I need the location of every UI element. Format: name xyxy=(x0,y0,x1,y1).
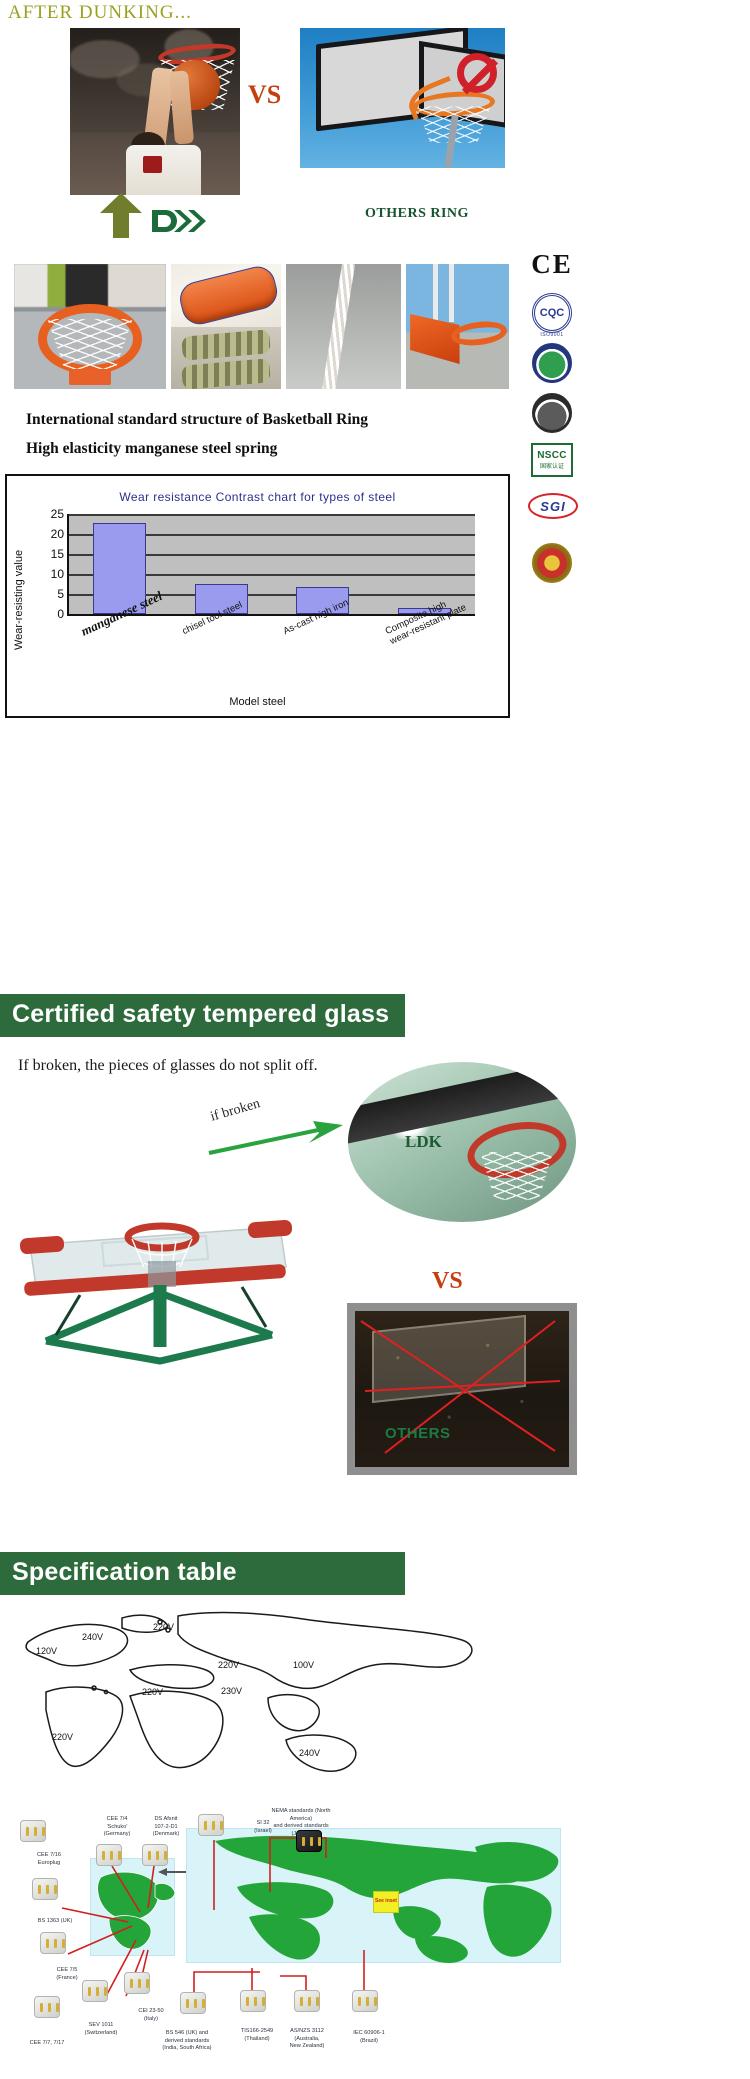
chart-y-tick: 20 xyxy=(51,527,64,541)
chart-title: Wear resistance Contrast chart for types… xyxy=(7,490,508,504)
photo-net-rope xyxy=(286,264,401,389)
headline-manganese-spring: High elasticity manganese steel spring xyxy=(26,440,277,458)
others-broken-label: OTHERS xyxy=(385,1425,451,1442)
voltage-label: 220V xyxy=(142,1687,163,1697)
dark-circular-certification-badge xyxy=(528,393,576,435)
tempered-glass-subtitle: If broken, the pieces of glasses do not … xyxy=(18,1057,318,1075)
others-broken-backboard-photo: OTHERS xyxy=(347,1303,577,1475)
voltage-label: 100V xyxy=(293,1660,314,1670)
plug-cei-23-50-italy-icon xyxy=(124,1972,150,1994)
inset-arrow-icon xyxy=(158,1868,186,1876)
nscc-badge-label: NSCC xyxy=(537,450,567,461)
plug-cee-7-7-7-17-icon xyxy=(34,1996,60,2018)
plug-tis166-2549-thailand-icon xyxy=(240,1990,266,2012)
plug-as-nzs-3112-caption: AS/NZS 3112 (Australia, New Zealand) xyxy=(276,2028,338,2051)
vs-label-top: VS xyxy=(248,80,281,110)
world-map-green: See inset xyxy=(186,1828,561,1963)
plug-cee-7-16-europlug-caption: CEE 7/16 Europlug xyxy=(18,1852,80,1867)
plug-sev-1011-switzerland-caption: SEV 1011 (Switzerland) xyxy=(70,2022,132,2037)
world-outline-map-icon xyxy=(10,1600,530,1790)
plug-cee-7-5-france-icon xyxy=(40,1932,66,1954)
voltage-label: 230V xyxy=(221,1686,242,1696)
ldk-brand-logo xyxy=(150,208,210,234)
tempered-glass-closeup-photo: LDK xyxy=(348,1062,576,1222)
voltage-label: 220V xyxy=(218,1660,239,1670)
cqc-badge-mark: CQC xyxy=(532,293,572,333)
plug-bs-546-india-sa-caption: BS 546 (UK) and derived standards (India… xyxy=(156,2030,218,2053)
plug-sev-1011-switzerland-icon xyxy=(82,1980,108,2002)
chart-y-axis-label: Wear-resisting value xyxy=(13,520,29,680)
red-crack-lines xyxy=(355,1311,569,1467)
plug-ds-afsnit-107-2-d1-icon xyxy=(142,1844,168,1866)
plug-cei-23-50-italy-caption: CEI 23-50 (Italy) xyxy=(120,2008,182,2023)
glass-backboard-hoop-illustration xyxy=(10,1175,300,1375)
plug-nema-standards-caption: NEMA standards (North America) and deriv… xyxy=(270,1808,332,1838)
plug-bs-1363-uk-icon xyxy=(32,1878,58,1900)
nscc-badge-caption: 国家认证 xyxy=(540,461,564,470)
sgi-badge: SGI xyxy=(528,493,576,535)
plug-si-32-israel-icon xyxy=(198,1814,224,1836)
plug-cee-7-7-7-17-caption: CEE 7/7, 7/17 xyxy=(16,2040,78,2048)
voltage-label: 220V xyxy=(52,1732,73,1742)
ce-badge: CE xyxy=(528,243,576,285)
see-inset-marker: See inset xyxy=(373,1891,399,1913)
certification-badge-column: CE CQC ISO9001 NSCC 国家认证 SGI xyxy=(524,243,580,593)
photo-mounted-bracket xyxy=(406,264,509,389)
world-plug-standards-diagram: See inset xyxy=(8,1800,568,2070)
up-arrow-icon xyxy=(100,193,142,238)
chart-y-tick: 10 xyxy=(51,567,64,581)
wear-resistance-chart: Wear resistance Contrast chart for types… xyxy=(5,474,510,718)
quality-emblem-badge xyxy=(528,543,576,585)
prohibition-icon xyxy=(457,53,497,93)
cqc-badge-caption: ISO9001 xyxy=(528,332,576,338)
product-detail-page: AFTER DUNKING... VS OTHERS RING xyxy=(0,0,750,2079)
plug-iec-60906-1-brazil-caption: IEC 60906-1 (Brazil) xyxy=(338,2030,400,2045)
photo-rim-and-springs xyxy=(171,264,281,389)
chart-y-tick: 0 xyxy=(57,607,64,621)
vs-label-glass: VS xyxy=(432,1268,463,1295)
plug-cee-7-4-schuko-icon xyxy=(96,1844,122,1866)
chart-x-axis-label: Model steel xyxy=(7,696,508,708)
plug-iec-60906-1-brazil-icon xyxy=(352,1990,378,2012)
after-dunking-title: AFTER DUNKING... xyxy=(8,2,192,24)
product-photo-strip xyxy=(14,264,509,389)
others-bent-ring-photo xyxy=(300,28,505,168)
if-broken-arrow-group: if broken xyxy=(205,1095,345,1165)
others-ring-label: OTHERS RING xyxy=(365,206,469,222)
sgi-badge-label: SGI xyxy=(528,493,578,519)
section-banner-specification: Specification table xyxy=(0,1552,405,1595)
cqc-badge: CQC ISO9001 xyxy=(528,293,576,335)
plug-as-nzs-3112-icon xyxy=(294,1990,320,2012)
headline-standard-structure: International standard structure of Bask… xyxy=(26,411,368,429)
green-star-certification-badge xyxy=(528,343,576,385)
voltage-label: 120V xyxy=(36,1646,57,1656)
player-dunking-photo xyxy=(70,28,240,195)
nscc-badge: NSCC 国家认证 xyxy=(528,443,576,485)
voltage-label: 240V xyxy=(299,1748,320,1758)
plug-cee-7-16-europlug-icon xyxy=(20,1820,46,1842)
section-banner-tempered-glass: Certified safety tempered glass xyxy=(0,994,405,1037)
plug-ds-afsnit-107-2-d1-caption: DS Afsnit 107-2-D1 (Denmark) xyxy=(135,1816,197,1839)
plug-bs-546-india-sa-icon xyxy=(180,1992,206,2014)
chart-gridline xyxy=(69,514,475,516)
voltage-label: 220V xyxy=(153,1622,174,1632)
chart-y-tick: 15 xyxy=(51,547,64,561)
photo-ring-front-view xyxy=(14,264,166,389)
chart-y-tick: 25 xyxy=(51,507,64,521)
world-voltage-map: 120V240V220V220V220V230V100V220V240V xyxy=(10,1600,530,1790)
chart-y-tick: 5 xyxy=(57,587,64,601)
plug-bs-1363-uk-caption: BS 1363 (UK) xyxy=(24,1918,86,1926)
voltage-label: 240V xyxy=(82,1632,103,1642)
